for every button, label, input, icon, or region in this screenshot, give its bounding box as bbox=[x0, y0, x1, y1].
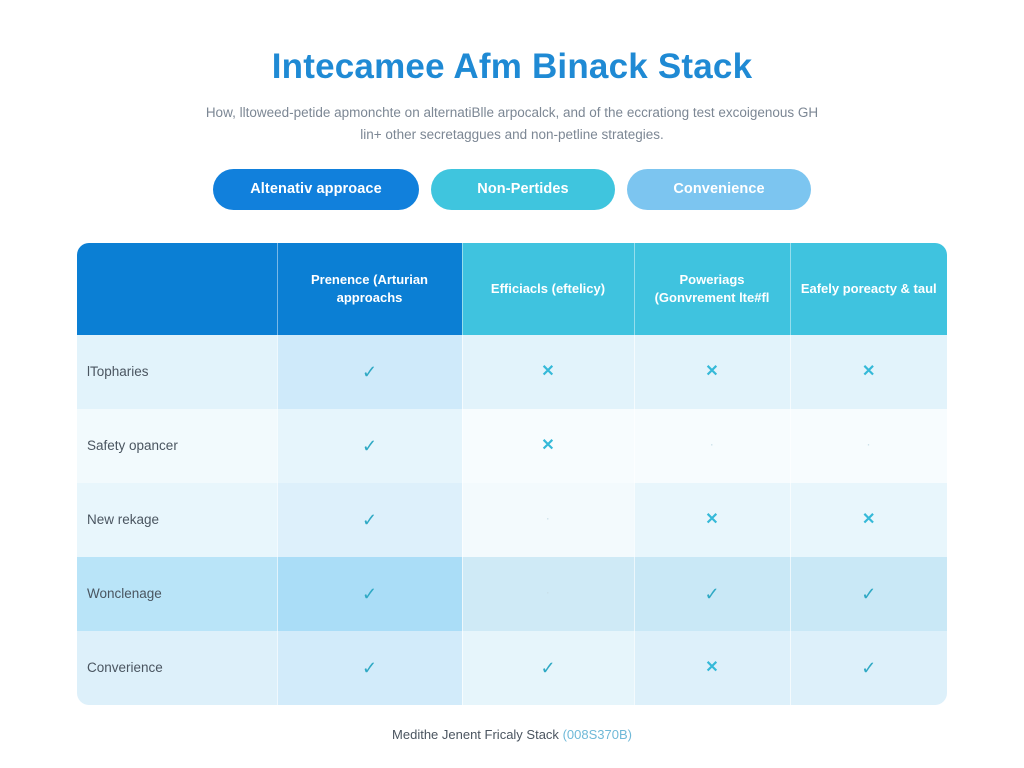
row-label: Safety opancer bbox=[77, 409, 277, 483]
table-row: lTopharies ✓ ✕ ✕ ✕ bbox=[77, 335, 947, 409]
cell-mark: ✓ bbox=[790, 557, 947, 631]
cell-mark: ✓ bbox=[790, 631, 947, 705]
cell-mark: ✓ bbox=[277, 335, 462, 409]
pill-label: Convenience bbox=[673, 181, 764, 197]
cell-mark: ✓ bbox=[277, 557, 462, 631]
footer-text: Medithe Jenent Fricaly Stack bbox=[392, 727, 559, 742]
cell-mark: · bbox=[634, 409, 790, 483]
cell-mark: · bbox=[462, 557, 634, 631]
cell-mark: · bbox=[790, 409, 947, 483]
footer-code: (008S370B) bbox=[563, 727, 632, 742]
cell-mark: ✓ bbox=[277, 409, 462, 483]
table-row: Converience ✓ ✓ ✕ ✓ bbox=[77, 631, 947, 705]
table-row: Safety opancer ✓ ✕ · · bbox=[77, 409, 947, 483]
table-body: lTopharies ✓ ✕ ✕ ✕ Safety opancer ✓ ✕ · … bbox=[77, 335, 947, 705]
cell-mark: ✕ bbox=[634, 631, 790, 705]
cell-mark: ✕ bbox=[790, 483, 947, 557]
cell-mark: ✓ bbox=[634, 557, 790, 631]
column-header-prenence: Prenence (Arturian approachs bbox=[277, 243, 462, 335]
cell-mark: ✓ bbox=[277, 631, 462, 705]
cell-mark: · bbox=[462, 483, 634, 557]
category-pill-row: Altenativ approace Non-Pertides Convenie… bbox=[0, 169, 1024, 210]
row-label: lTopharies bbox=[77, 335, 277, 409]
column-header-blank bbox=[77, 243, 277, 335]
column-header-eafely: Eafely poreacty & taul bbox=[790, 243, 947, 335]
column-header-poweriags: Poweriags (Gonvrement lte#fl bbox=[634, 243, 790, 335]
column-header-efficiacls: Efficiacls (eftelicy) bbox=[462, 243, 634, 335]
cell-mark: ✕ bbox=[634, 335, 790, 409]
cell-mark: ✕ bbox=[462, 409, 634, 483]
footer: Medithe Jenent Fricaly Stack (008S370B) bbox=[0, 727, 1024, 742]
row-label: Converience bbox=[77, 631, 277, 705]
cell-mark: ✕ bbox=[790, 335, 947, 409]
page-root: Intecamee Afm Binack Stack How, lltoweed… bbox=[0, 0, 1024, 768]
pill-non-peptides[interactable]: Non-Pertides bbox=[431, 169, 615, 210]
table-header-row: Prenence (Arturian approachs Efficiacls … bbox=[77, 243, 947, 335]
comparison-table: Prenence (Arturian approachs Efficiacls … bbox=[77, 243, 947, 705]
pill-label: Altenativ approace bbox=[250, 181, 382, 197]
cell-mark: ✕ bbox=[634, 483, 790, 557]
table-row: New rekage ✓ · ✕ ✕ bbox=[77, 483, 947, 557]
page-subtitle: How, lltoweed-petide apmonchte on altern… bbox=[202, 102, 822, 146]
page-title: Intecamee Afm Binack Stack bbox=[0, 46, 1024, 88]
table-row: Wonclenage ✓ · ✓ ✓ bbox=[77, 557, 947, 631]
row-label: New rekage bbox=[77, 483, 277, 557]
cell-mark: ✓ bbox=[277, 483, 462, 557]
comparison-table-wrapper: Prenence (Arturian approachs Efficiacls … bbox=[77, 243, 947, 705]
pill-alternative-approach[interactable]: Altenativ approace bbox=[213, 169, 419, 210]
pill-convenience[interactable]: Convenience bbox=[627, 169, 811, 210]
header-block: Intecamee Afm Binack Stack How, lltoweed… bbox=[0, 0, 1024, 146]
pill-label: Non-Pertides bbox=[477, 181, 568, 197]
cell-mark: ✓ bbox=[462, 631, 634, 705]
table-header: Prenence (Arturian approachs Efficiacls … bbox=[77, 243, 947, 335]
row-label: Wonclenage bbox=[77, 557, 277, 631]
cell-mark: ✕ bbox=[462, 335, 634, 409]
